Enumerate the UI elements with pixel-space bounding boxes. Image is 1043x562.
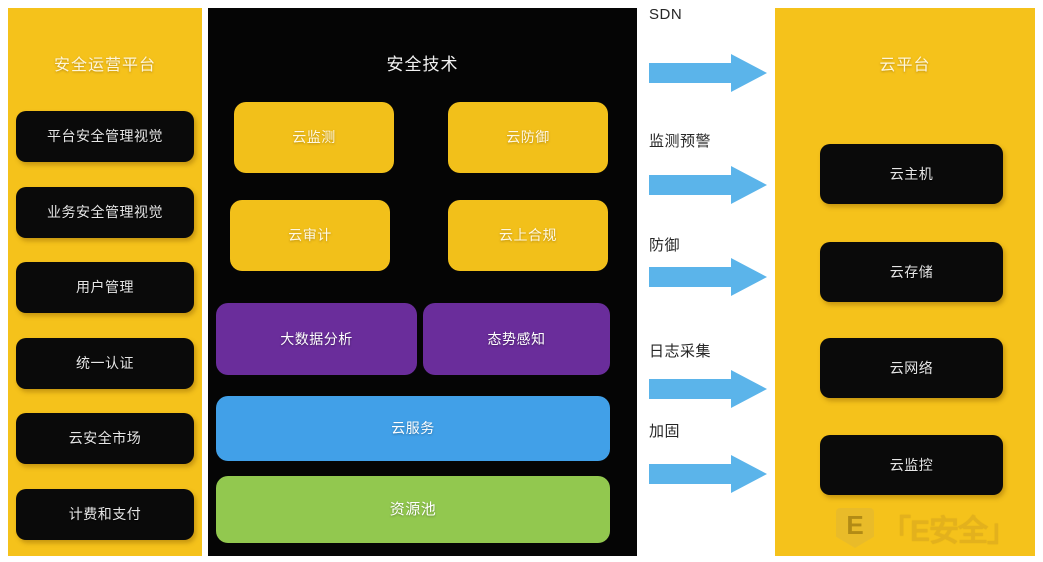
flow-arrow-column: SDN 监测预警 防御 日志采集 加固 <box>645 0 775 562</box>
flow-label-hardening: 加固 <box>649 420 680 441</box>
right-item-cloud-monitoring-console[interactable]: 云监控 <box>820 435 1003 495</box>
left-item-label: 统一认证 <box>76 355 134 372</box>
right-item-cloud-host[interactable]: 云主机 <box>820 144 1003 204</box>
right-item-cloud-network[interactable]: 云网络 <box>820 338 1003 398</box>
flow-label-sdn: SDN <box>649 6 682 23</box>
center-item-label: 大数据分析 <box>280 331 353 348</box>
panel-left-title: 安全运营平台 <box>8 51 202 75</box>
left-item-billing-and-payment[interactable]: 计费和支付 <box>16 489 194 540</box>
center-item-label: 云防御 <box>506 129 550 146</box>
left-item-unified-authentication[interactable]: 统一认证 <box>16 338 194 389</box>
arrow-right-icon <box>649 54 767 92</box>
panel-center-title: 安全技术 <box>208 50 637 75</box>
arrow-right-icon <box>649 166 767 204</box>
right-item-label: 云监控 <box>890 457 934 474</box>
left-item-user-management[interactable]: 用户管理 <box>16 262 194 313</box>
flow-label-defense: 防御 <box>649 234 680 255</box>
left-item-label: 平台安全管理视觉 <box>47 128 163 145</box>
left-item-platform-security-management-view[interactable]: 平台安全管理视觉 <box>16 111 194 162</box>
arrow-right-icon <box>649 370 767 408</box>
center-item-resource-pool[interactable]: 资源池 <box>216 476 610 543</box>
left-item-label: 用户管理 <box>76 279 134 296</box>
right-item-label: 云主机 <box>890 166 934 183</box>
panel-security-operations-platform: 安全运营平台 平台安全管理视觉 业务安全管理视觉 用户管理 统一认证 云安全市场… <box>8 8 202 556</box>
center-item-cloud-defense[interactable]: 云防御 <box>448 102 608 173</box>
flow-label-log-collection: 日志采集 <box>649 340 711 361</box>
left-item-label: 计费和支付 <box>69 506 142 523</box>
center-item-label: 云服务 <box>391 420 435 437</box>
panel-security-technology: 安全技术 云监测 云防御 云审计 云上合规 大数据分析 态势感知 云服务 资源池 <box>208 8 637 556</box>
left-item-label: 云安全市场 <box>69 430 142 447</box>
right-item-label: 云网络 <box>890 360 934 377</box>
center-item-label: 云监测 <box>292 129 336 146</box>
center-item-cloud-audit[interactable]: 云审计 <box>230 200 390 271</box>
center-item-big-data-analysis[interactable]: 大数据分析 <box>216 303 417 375</box>
left-item-cloud-security-market[interactable]: 云安全市场 <box>16 413 194 464</box>
right-item-cloud-storage[interactable]: 云存储 <box>820 242 1003 302</box>
center-item-label: 云上合规 <box>499 227 557 244</box>
center-item-cloud-compliance[interactable]: 云上合规 <box>448 200 608 271</box>
left-item-label: 业务安全管理视觉 <box>47 204 163 221</box>
right-item-label: 云存储 <box>890 264 934 281</box>
panel-cloud-platform: 云平台 云主机 云存储 云网络 云监控 <box>775 8 1035 556</box>
center-item-label: 云审计 <box>288 227 332 244</box>
arrow-right-icon <box>649 258 767 296</box>
left-item-business-security-management-view[interactable]: 业务安全管理视觉 <box>16 187 194 238</box>
center-item-cloud-monitoring[interactable]: 云监测 <box>234 102 394 173</box>
center-item-label: 资源池 <box>390 501 437 519</box>
center-item-label: 态势感知 <box>488 331 546 348</box>
diagram-canvas: 安全运营平台 平台安全管理视觉 业务安全管理视觉 用户管理 统一认证 云安全市场… <box>0 0 1043 562</box>
flow-label-monitoring-alert: 监测预警 <box>649 130 711 151</box>
center-item-cloud-service[interactable]: 云服务 <box>216 396 610 461</box>
panel-right-title: 云平台 <box>775 51 1035 75</box>
arrow-right-icon <box>649 455 767 493</box>
center-item-situational-awareness[interactable]: 态势感知 <box>423 303 610 375</box>
